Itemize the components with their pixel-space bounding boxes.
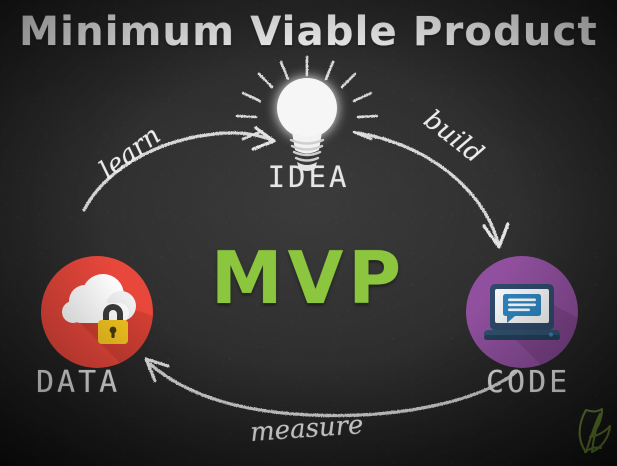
lightbulb-icon: [277, 78, 337, 171]
node-label-data: DATA: [36, 365, 120, 400]
arrow-measure: [146, 359, 516, 416]
center-label-mvp: MVP: [0, 236, 617, 320]
node-label-idea: IDEA: [0, 160, 617, 194]
leaf-logo: [580, 409, 610, 452]
mvp-diagram-canvas: Minimum Viable Product: [0, 0, 617, 466]
node-label-code: CODE: [486, 365, 570, 400]
